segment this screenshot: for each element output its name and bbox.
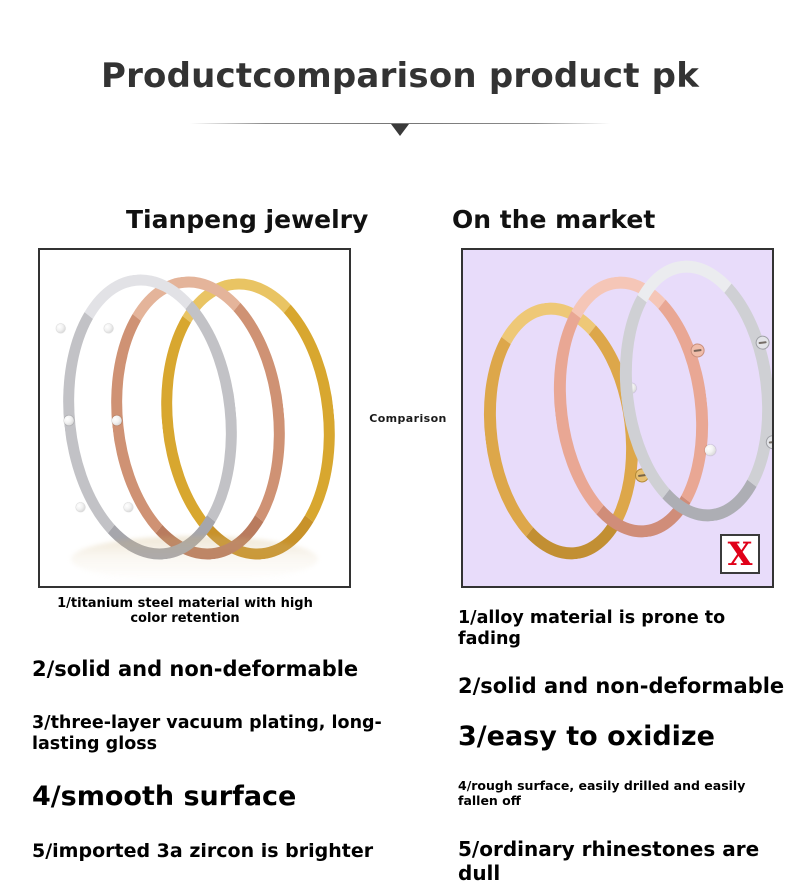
feature-list-tianpeng: 1/titanium steel material with high colo… (32, 596, 432, 862)
x-mark-badge: X (720, 534, 760, 574)
feature-item: 3/three-layer vacuum plating, long-lasti… (32, 713, 432, 754)
feature-item: 2/solid and non-deformable (458, 674, 788, 699)
page-title: Productcomparison product pk (0, 58, 800, 95)
screw-motif (765, 434, 774, 450)
comparison-label: Comparison (360, 412, 456, 425)
page-header: Productcomparison product pk (0, 0, 800, 141)
feature-item: 4/smooth surface (32, 781, 432, 813)
column-headings: Tianpeng jewelry On the market (0, 205, 800, 243)
caret-down-icon (391, 124, 409, 136)
product-image-tianpeng (38, 248, 351, 588)
feature-item: 2/solid and non-deformable (32, 657, 432, 682)
feature-item: 1/titanium steel material with high colo… (40, 596, 330, 627)
product-image-market: X (461, 248, 774, 588)
column-heading-market: On the market (452, 205, 655, 234)
zircon-stud (56, 323, 66, 333)
zircon-stud (63, 415, 74, 426)
feature-list-market: 1/alloy material is prone to fading 2/so… (458, 596, 788, 886)
feature-item: 1/alloy material is prone to fading (458, 608, 788, 649)
feature-item: 3/easy to oxidize (458, 721, 788, 753)
feature-item: 5/imported 3a zircon is brighter (32, 840, 432, 862)
product-reflection (71, 536, 318, 582)
feature-item: 5/ordinary rhinestones are dull (458, 838, 788, 885)
column-heading-tianpeng: Tianpeng jewelry (126, 205, 368, 234)
zircon-stud (76, 502, 86, 512)
title-divider (190, 123, 610, 141)
feature-item: 4/rough surface, easily drilled and easi… (458, 779, 788, 809)
screw-motif (755, 335, 771, 351)
